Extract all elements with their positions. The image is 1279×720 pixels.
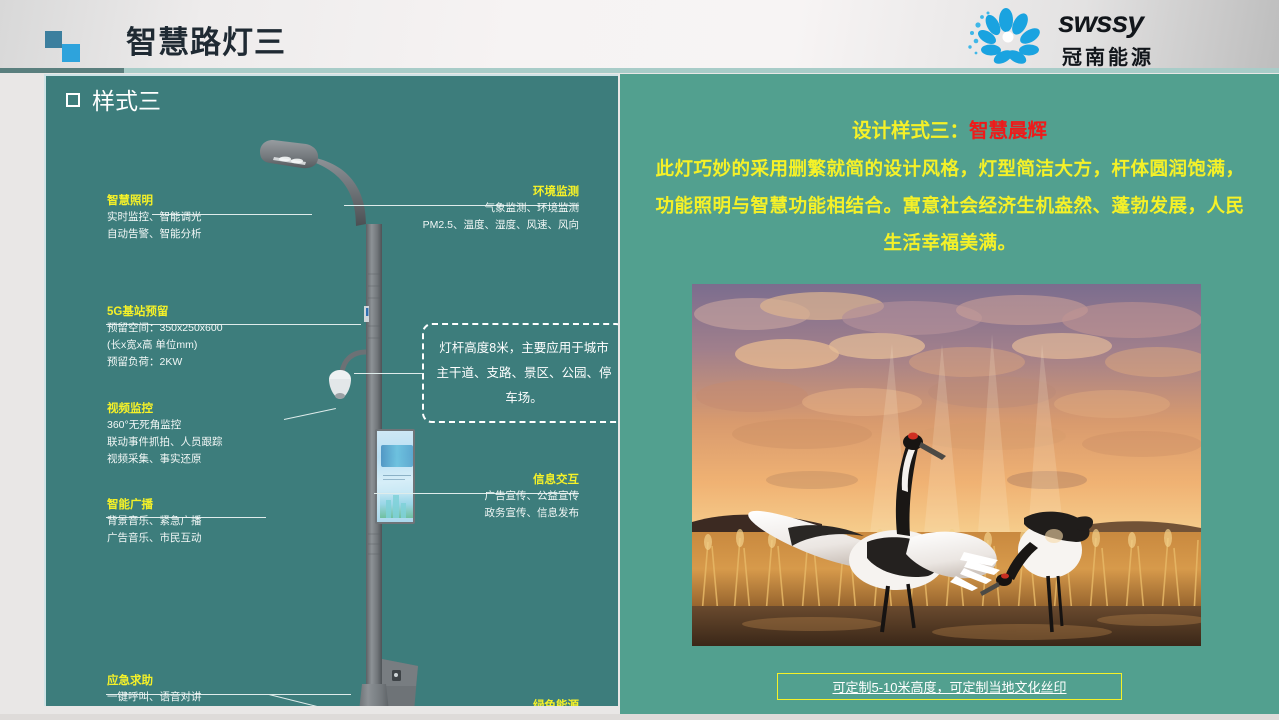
label-information-interaction: 信息交互 广告宣传、公益宣传 政务宣传、信息发布 bbox=[379, 473, 579, 522]
pole-height-callout: 灯杆高度8米，主要应用于城市主干道、支路、景区、公园、停车场。 bbox=[422, 323, 618, 423]
poster-title-art bbox=[381, 445, 413, 467]
header-square-blue-icon bbox=[62, 44, 80, 62]
bottom-strip bbox=[0, 714, 1279, 720]
left-diagram-panel: 样式三 bbox=[44, 74, 618, 706]
label-smart-lighting: 智慧照明 实时监控、智能调光 自动告警、智能分析 bbox=[107, 194, 202, 243]
page-header: 智慧路灯三 swssy 冠南能源 bbox=[0, 0, 1279, 70]
header-strip-light bbox=[124, 68, 1279, 73]
label-video-surveillance: 视频监控 360°无死角监控 联动事件抓拍、人员跟踪 视频采集、事实还原 bbox=[107, 402, 223, 468]
header-square-dark-icon bbox=[45, 31, 62, 48]
crane-sunset-photo bbox=[692, 284, 1201, 646]
customization-caption: 可定制5-10米高度，可定制当地文化丝印 bbox=[777, 673, 1122, 700]
water-droplet-flower-icon bbox=[962, 7, 1050, 65]
design-description-text: 此灯巧妙的采用删繁就简的设计风格，灯型简洁大方，杆体圆润饱满，功能照明与智慧功能… bbox=[650, 150, 1250, 261]
label-smart-broadcast: 智能广播 背景音乐、紧急广播 广告音乐、市民互动 bbox=[107, 498, 202, 547]
label-emergency-help: 应急求助 一键呼叫、语音对讲 视频通话、紧急报警 bbox=[107, 674, 202, 706]
brand-logo: swssy 冠南能源 bbox=[962, 5, 1262, 67]
label-environment-monitoring: 环境监测 气象监测、环境监测 PM2.5、温度、湿度、风速、风向 bbox=[379, 185, 579, 234]
logo-wordmark: swssy bbox=[1058, 6, 1143, 40]
page-title: 智慧路灯三 bbox=[126, 17, 286, 62]
header-strip-dark bbox=[0, 68, 124, 73]
design-style-title: 设计样式三：智慧晨辉 bbox=[620, 114, 1279, 143]
connector-callout bbox=[354, 373, 424, 374]
logo-subtitle: 冠南能源 bbox=[1062, 41, 1154, 70]
label-green-energy: 绿色能源 汽车充电 手机充电 bbox=[379, 699, 579, 706]
design-style-highlight: 智慧晨辉 bbox=[969, 120, 1047, 142]
label-5g-base-station: 5G基站预留 预留空间：350x250x600 (长x宽x高 单位mm) 预留负… bbox=[107, 305, 223, 371]
